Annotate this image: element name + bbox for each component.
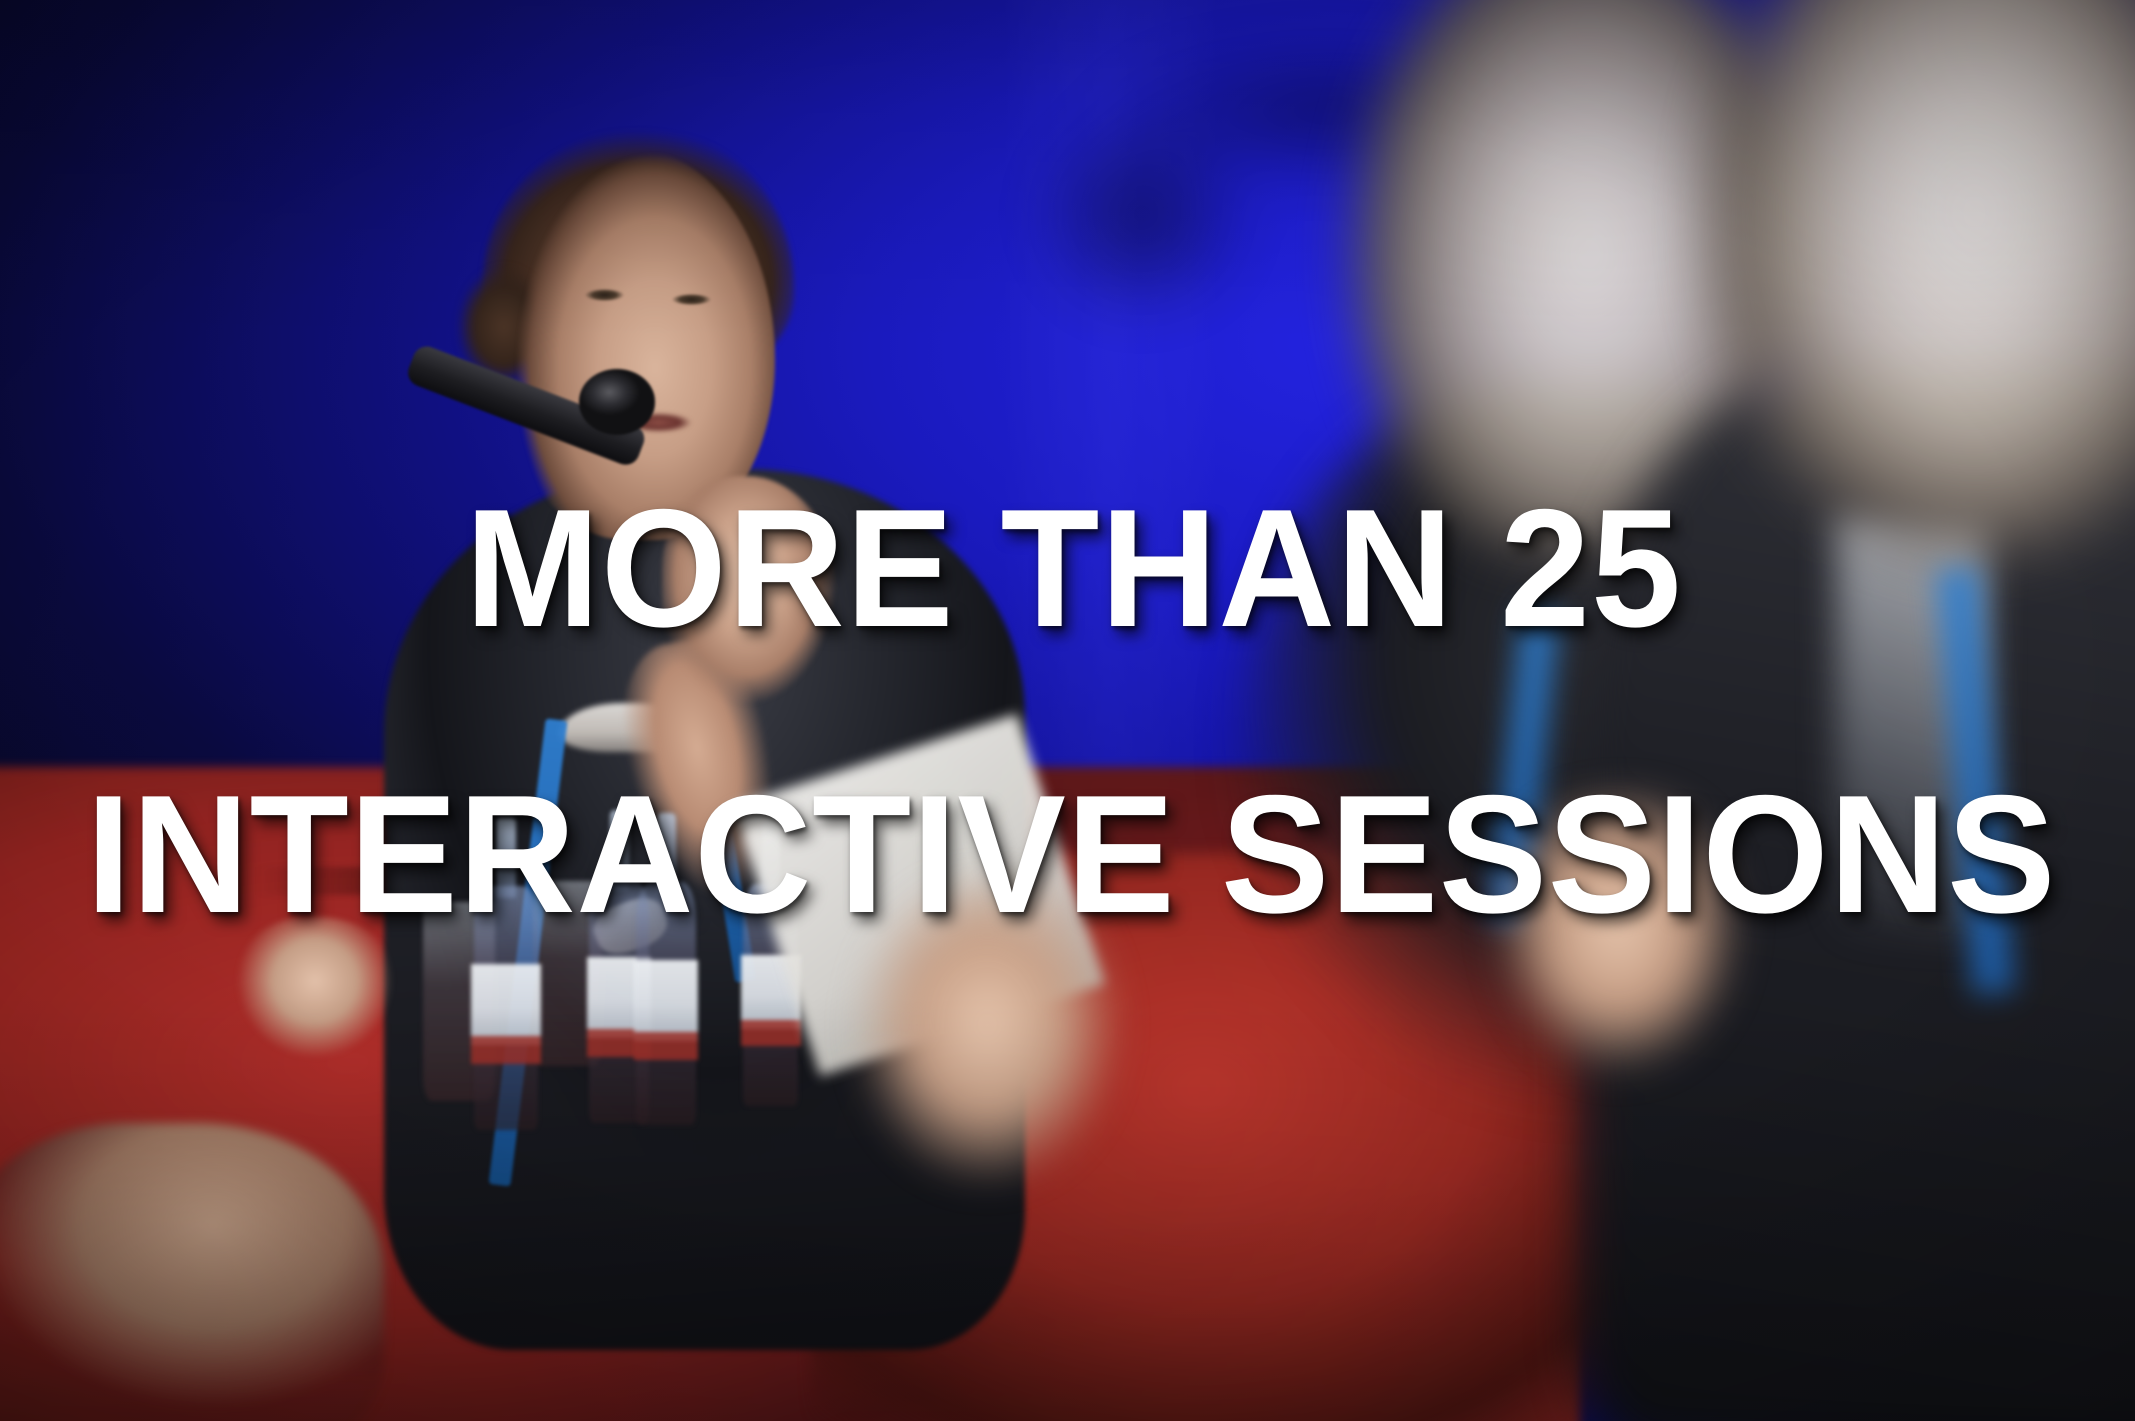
headline-line-1: MORE THAN 25 bbox=[465, 484, 1682, 652]
headline-overlay: MORE THAN 25 INTERACTIVE SESSIONS bbox=[0, 0, 2135, 1421]
headline-line-2: INTERACTIVE SESSIONS bbox=[86, 770, 2056, 938]
hero-banner: MORE THAN 25 INTERACTIVE SESSIONS bbox=[0, 0, 2135, 1421]
